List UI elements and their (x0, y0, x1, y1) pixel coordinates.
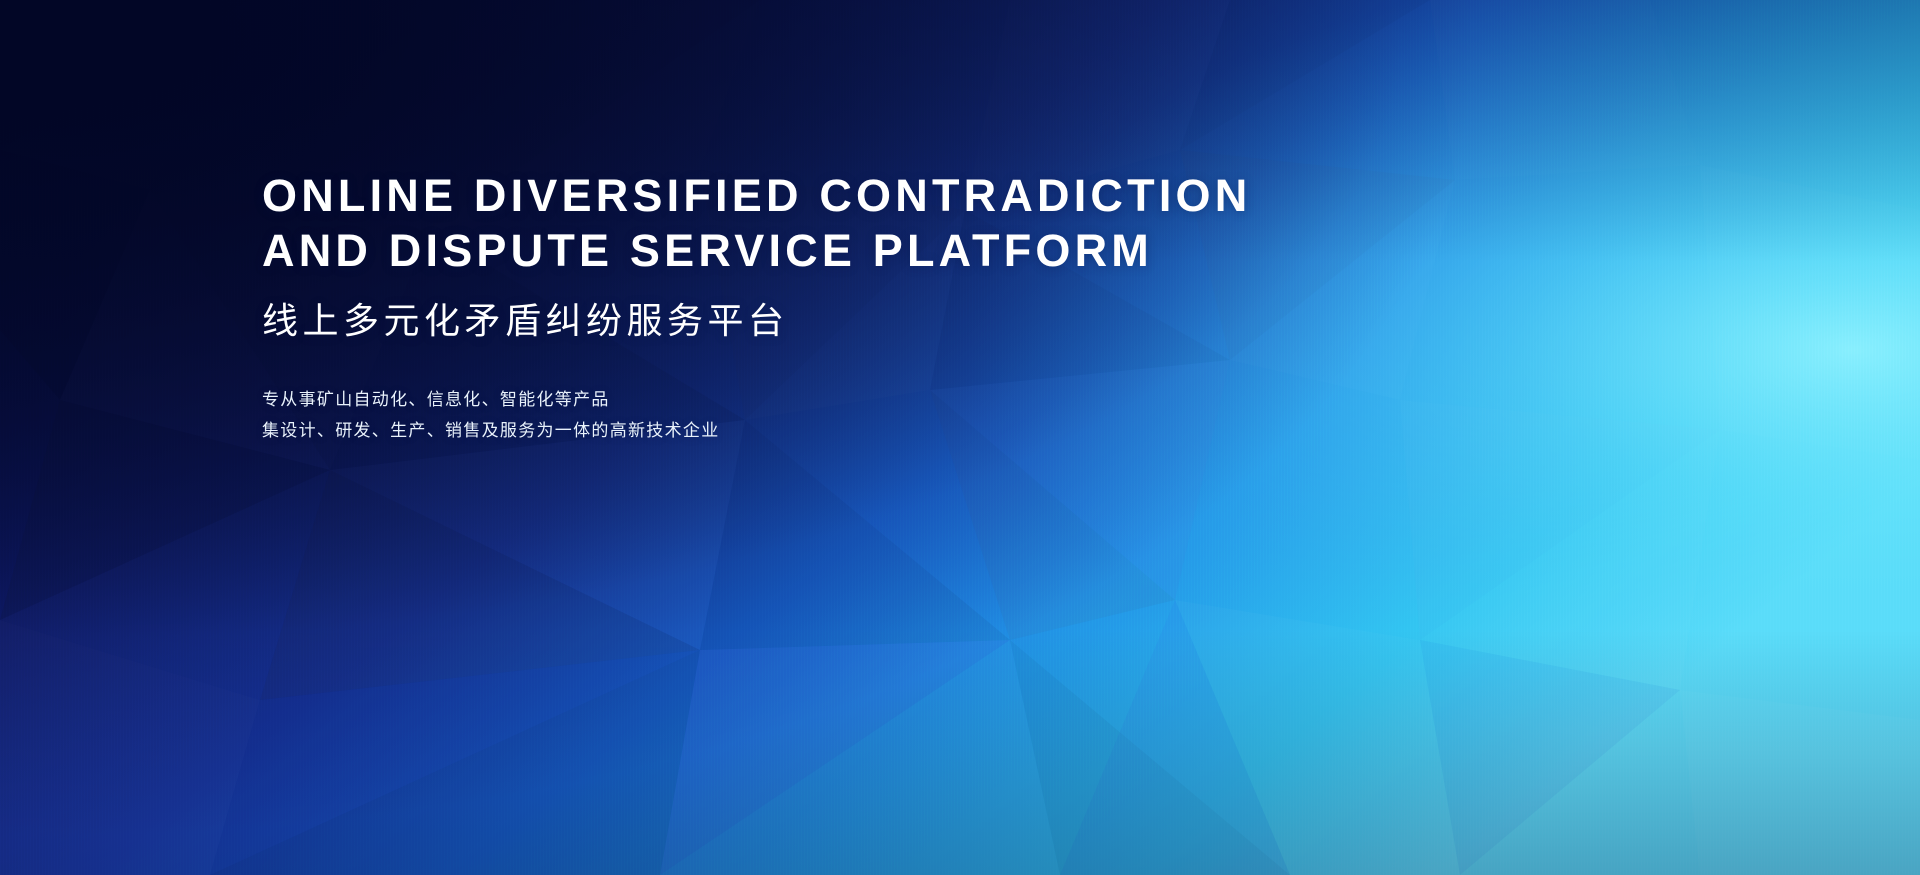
description-block: 专从事矿山自动化、信息化、智能化等产品 集设计、研发、生产、销售及服务为一体的高… (262, 384, 1442, 446)
hero-content: ONLINE DIVERSIFIED CONTRADICTION AND DIS… (262, 168, 1442, 446)
hero-banner: ONLINE DIVERSIFIED CONTRADICTION AND DIS… (0, 0, 1920, 875)
description-line-1: 专从事矿山自动化、信息化、智能化等产品 (262, 384, 1442, 415)
headline-line-1: ONLINE DIVERSIFIED CONTRADICTION (262, 168, 1442, 223)
headline-line-2: AND DISPUTE SERVICE PLATFORM (262, 223, 1442, 278)
description-line-2: 集设计、研发、生产、销售及服务为一体的高新技术企业 (262, 415, 1442, 446)
subtitle-chinese: 线上多元化矛盾纠纷服务平台 (262, 299, 1442, 343)
